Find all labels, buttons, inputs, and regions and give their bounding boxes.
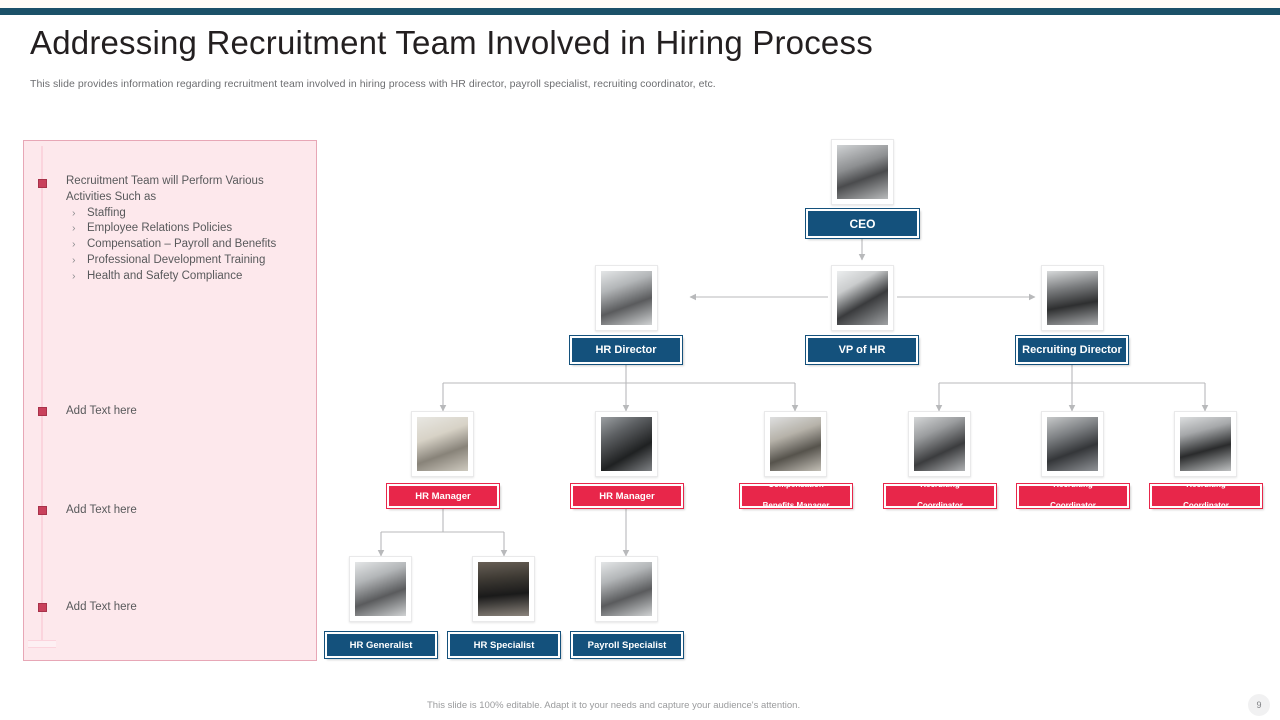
org-label-text: HR Director xyxy=(572,344,680,356)
org-label-compensation-benefits-manager[interactable]: Compensation Benefits Manager xyxy=(740,484,852,508)
avatar-recruiting-director xyxy=(1041,265,1104,331)
org-label-line-1: Recruiting xyxy=(1019,480,1127,491)
org-label-text: HR Manager xyxy=(389,491,497,502)
org-label-text: Recruiting Director xyxy=(1018,344,1126,356)
avatar-payroll-specialist xyxy=(595,556,658,622)
org-label-payroll-specialist[interactable]: Payroll Specialist xyxy=(571,632,683,658)
avatar-image xyxy=(417,417,468,471)
org-label-text: HR Generalist xyxy=(327,640,435,651)
page-number-badge: 9 xyxy=(1248,694,1270,716)
org-label-text: Payroll Specialist xyxy=(573,640,681,651)
org-label-recruiting-director[interactable]: Recruiting Director xyxy=(1016,336,1128,364)
avatar-vp-of-hr xyxy=(831,265,894,331)
org-label-text: Compensation Benefits Manager xyxy=(742,480,850,512)
org-label-line-1: Recruiting xyxy=(1152,480,1260,491)
avatar-image xyxy=(601,271,652,325)
org-label-recruiting-coordinator-3[interactable]: Recruiting Coordinator xyxy=(1150,484,1262,508)
org-label-recruiting-coordinator-1[interactable]: Recruiting Coordinator xyxy=(884,484,996,508)
avatar-hr-manager-1 xyxy=(411,411,474,477)
avatar-image xyxy=(1180,417,1231,471)
org-label-text: Recruiting Coordinator xyxy=(886,480,994,512)
avatar-image xyxy=(837,145,888,199)
avatar-image xyxy=(1047,417,1098,471)
avatar-compensation-benefits-manager xyxy=(764,411,827,477)
avatar-image xyxy=(478,562,529,616)
avatar-image xyxy=(914,417,965,471)
footer-note: This slide is 100% editable. Adapt it to… xyxy=(427,700,1027,711)
org-label-vp-of-hr[interactable]: VP of HR xyxy=(806,336,918,364)
avatar-image xyxy=(355,562,406,616)
org-label-line-2: Coordinator xyxy=(1152,501,1260,512)
org-label-ceo[interactable]: CEO xyxy=(806,209,919,238)
avatar-hr-director xyxy=(595,265,658,331)
org-label-hr-director[interactable]: HR Director xyxy=(570,336,682,364)
avatar-recruiting-coordinator-1 xyxy=(908,411,971,477)
slide-canvas: Addressing Recruitment Team Involved in … xyxy=(0,0,1280,720)
avatar-ceo xyxy=(831,139,894,205)
org-label-hr-generalist[interactable]: HR Generalist xyxy=(325,632,437,658)
org-chart: CEO HR Director VP of HR xyxy=(0,0,1280,720)
avatar-image xyxy=(1047,271,1098,325)
org-label-line-2: Benefits Manager xyxy=(742,501,850,512)
org-label-line-2: Coordinator xyxy=(1019,501,1127,512)
avatar-image xyxy=(601,562,652,616)
org-label-hr-specialist[interactable]: HR Specialist xyxy=(448,632,560,658)
avatar-hr-specialist xyxy=(472,556,535,622)
org-label-hr-manager-2[interactable]: HR Manager xyxy=(571,484,683,508)
org-label-text: VP of HR xyxy=(808,344,916,356)
org-label-text: Recruiting Coordinator xyxy=(1152,480,1260,512)
org-label-text: CEO xyxy=(808,217,917,231)
avatar-image xyxy=(601,417,652,471)
avatar-hr-generalist xyxy=(349,556,412,622)
org-label-line-1: Compensation xyxy=(742,480,850,491)
avatar-hr-manager-2 xyxy=(595,411,658,477)
org-label-line-2: Coordinator xyxy=(886,501,994,512)
org-label-line-1: Recruiting xyxy=(886,480,994,491)
org-label-text: HR Specialist xyxy=(450,640,558,651)
avatar-image xyxy=(837,271,888,325)
org-label-recruiting-coordinator-2[interactable]: Recruiting Coordinator xyxy=(1017,484,1129,508)
org-label-hr-manager-1[interactable]: HR Manager xyxy=(387,484,499,508)
org-label-text: HR Manager xyxy=(573,491,681,502)
avatar-recruiting-coordinator-2 xyxy=(1041,411,1104,477)
avatar-image xyxy=(770,417,821,471)
avatar-recruiting-coordinator-3 xyxy=(1174,411,1237,477)
org-label-text: Recruiting Coordinator xyxy=(1019,480,1127,512)
